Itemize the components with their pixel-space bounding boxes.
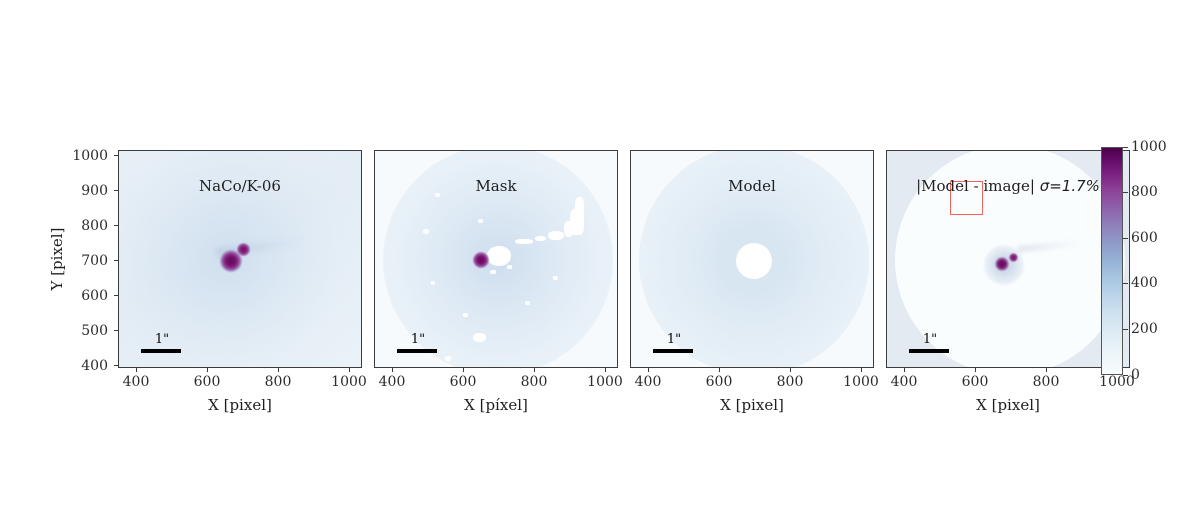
colorbar[interactable]: 1000 800 600 400 200 0 [0, 0, 1196, 530]
colorbar-tick-400 [1123, 283, 1128, 284]
colorbar-tick-0 [1123, 375, 1128, 376]
colorbar-label-600: 600 [1131, 230, 1158, 246]
figure-canvas: 1" NaCo/K-06 1" Mask [0, 0, 1196, 530]
colorbar-tick-600 [1123, 238, 1128, 239]
colorbar-label-0: 0 [1131, 367, 1140, 383]
colorbar-label-400: 400 [1131, 275, 1158, 291]
colorbar-label-1000: 1000 [1131, 139, 1167, 155]
colorbar-gradient [1101, 147, 1123, 375]
colorbar-tick-800 [1123, 192, 1128, 193]
colorbar-label-800: 800 [1131, 184, 1158, 200]
colorbar-tick-1000 [1123, 147, 1128, 148]
colorbar-tick-200 [1123, 329, 1128, 330]
colorbar-label-200: 200 [1131, 321, 1158, 337]
